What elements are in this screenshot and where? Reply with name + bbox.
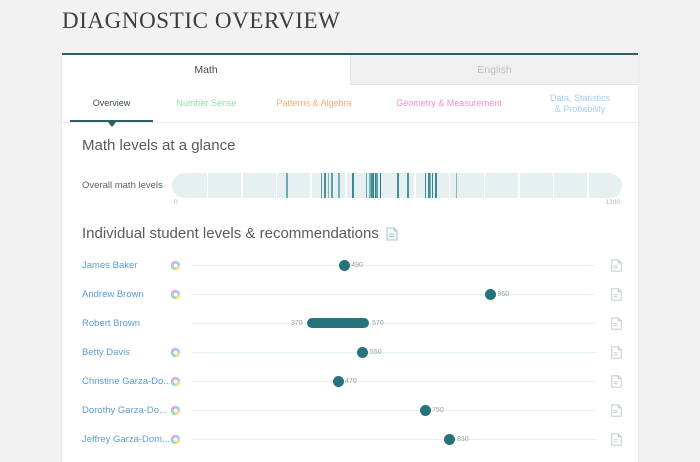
strip-tick <box>324 173 326 198</box>
individual-heading-text: Individual student levels & recommendati… <box>82 225 379 242</box>
report-document-icon[interactable] <box>611 433 622 446</box>
level-range-bar[interactable] <box>307 318 369 328</box>
strand-tab-bar: Overview Number Sense Patterns & Algebra… <box>62 85 638 123</box>
subject-tab-bar: Math English <box>62 53 638 85</box>
student-name-link[interactable]: James Baker <box>82 260 170 271</box>
tab-math[interactable]: Math <box>62 55 350 85</box>
strip-tick <box>380 173 382 198</box>
page-title: DIAGNOSTIC OVERVIEW <box>62 8 341 34</box>
strip-tick <box>366 173 368 198</box>
pie-chart-icon[interactable] <box>170 405 181 416</box>
tab-english[interactable]: English <box>350 55 638 85</box>
subtab-overview[interactable]: Overview <box>64 85 159 122</box>
recommendation-report-cell <box>596 259 622 272</box>
level-marker-dot[interactable] <box>420 405 431 416</box>
strip-segment-divider <box>587 173 589 198</box>
level-value-label: 750 <box>432 405 444 416</box>
student-row: Betty Davis 550 <box>82 338 622 367</box>
strip-segment-divider <box>241 173 243 198</box>
strip-segment-divider <box>207 173 209 198</box>
level-track-line <box>192 265 596 267</box>
strip-segment-divider <box>449 173 451 198</box>
level-track: 750 <box>192 400 596 422</box>
strand-breakdown-cell <box>170 376 192 387</box>
report-document-icon[interactable] <box>611 288 622 301</box>
subtab-geometry-measurement-label: Geometry & Measurement <box>396 98 502 109</box>
strip-tick <box>331 173 333 198</box>
student-name-link[interactable]: Jeffrey Garza-Dom... <box>82 434 170 445</box>
level-value-label: 550 <box>370 347 382 358</box>
subtab-patterns-algebra[interactable]: Patterns & Algebra <box>254 85 374 122</box>
student-name-link[interactable]: Andrew Brown <box>82 289 170 300</box>
report-document-icon[interactable] <box>611 346 622 359</box>
level-marker-dot[interactable] <box>485 289 496 300</box>
strip-segment-divider <box>484 173 486 198</box>
level-value-label: 960 <box>497 289 509 300</box>
strip-segment-divider <box>553 173 555 198</box>
report-document-icon[interactable] <box>611 404 622 417</box>
subtab-data-statistics-probability-label-line1: Data, Statistics <box>550 93 610 104</box>
subtab-number-sense[interactable]: Number Sense <box>159 85 254 122</box>
level-track-line <box>192 410 596 412</box>
level-track: 550 <box>192 342 596 364</box>
recommendation-report-cell <box>596 404 622 417</box>
level-range-high-label: 570 <box>372 318 384 329</box>
strip-tick <box>352 173 354 198</box>
subtab-patterns-algebra-label: Patterns & Algebra <box>276 98 351 109</box>
distribution-strip-wrapper: 0 1300 <box>172 173 622 198</box>
pie-chart-icon[interactable] <box>170 260 181 271</box>
level-marker-dot[interactable] <box>339 260 350 271</box>
axis-max-label: 1300 <box>606 199 620 206</box>
strip-tick <box>321 173 323 198</box>
strip-tick <box>407 173 409 198</box>
level-track: 830 <box>192 429 596 451</box>
student-row: Christine Garza-Do... 470 <box>82 367 622 396</box>
student-row: Dorothy Garza-Do... 750 <box>82 396 622 425</box>
level-track: 370570 <box>192 313 596 335</box>
level-value-label: 490 <box>351 260 363 271</box>
level-track: 490 <box>192 255 596 277</box>
diagnostic-panel: Math English Overview Number Sense Patte… <box>62 53 638 462</box>
pie-chart-icon[interactable] <box>170 376 181 387</box>
strip-tick <box>328 173 330 198</box>
level-track-line <box>192 323 596 325</box>
strip-tick <box>286 173 288 198</box>
strip-tick <box>435 173 437 198</box>
strip-segment-divider <box>310 173 312 198</box>
level-track: 470 <box>192 371 596 393</box>
document-export-icon[interactable] <box>386 227 398 241</box>
level-track-line <box>192 381 596 383</box>
student-row: Robert Brown370570 <box>82 309 622 338</box>
subtab-data-statistics-probability[interactable]: Data, Statistics & Probability <box>524 85 636 122</box>
student-name-link[interactable]: Dorothy Garza-Do... <box>82 405 170 416</box>
recommendation-report-cell <box>596 317 622 330</box>
level-value-label: 470 <box>345 376 357 387</box>
pie-chart-icon[interactable] <box>170 434 181 445</box>
overall-math-levels-label: Overall math levels <box>82 180 172 191</box>
student-name-link[interactable]: Christine Garza-Do... <box>82 376 170 387</box>
strip-segment-divider <box>345 173 347 198</box>
subtab-data-statistics-probability-label-line2: & Probability <box>555 104 606 115</box>
level-track-line <box>192 352 596 354</box>
strand-breakdown-cell <box>170 289 192 300</box>
tab-english-label: English <box>477 64 511 76</box>
axis-min-label: 0 <box>174 199 178 206</box>
strip-tick <box>425 173 427 198</box>
individual-section-heading: Individual student levels & recommendati… <box>82 225 398 242</box>
student-name-link[interactable]: Robert Brown <box>82 318 170 329</box>
level-track-line <box>192 439 596 441</box>
strand-breakdown-cell <box>170 434 192 445</box>
student-list: James Baker 490 Andrew Brown 960 <box>82 251 622 454</box>
recommendation-report-cell <box>596 433 622 446</box>
subtab-geometry-measurement[interactable]: Geometry & Measurement <box>374 85 524 122</box>
strip-tick <box>397 173 399 198</box>
strip-tick <box>432 173 434 198</box>
strand-breakdown-cell <box>170 347 192 358</box>
strip-segment-divider <box>518 173 520 198</box>
level-marker-dot[interactable] <box>333 376 344 387</box>
pie-chart-icon[interactable] <box>170 347 181 358</box>
student-row: Andrew Brown 960 <box>82 280 622 309</box>
recommendation-report-cell <box>596 346 622 359</box>
level-value-label: 830 <box>457 434 469 445</box>
level-range-low-label: 370 <box>291 318 303 329</box>
level-track: 960 <box>192 284 596 306</box>
strand-breakdown-cell <box>170 260 192 271</box>
glance-heading-text: Math levels at a glance <box>82 137 235 154</box>
distribution-strip[interactable] <box>172 173 622 198</box>
overall-math-levels-row: Overall math levels 0 1300 <box>82 173 622 198</box>
strip-tick <box>338 173 340 198</box>
strip-tick <box>376 173 378 198</box>
chevron-down-icon <box>108 122 116 127</box>
subtab-number-sense-label: Number Sense <box>176 98 236 109</box>
strip-segment-divider <box>276 173 278 198</box>
subtab-overview-label: Overview <box>93 98 131 109</box>
recommendation-report-cell <box>596 375 622 388</box>
tab-math-label: Math <box>194 64 217 76</box>
level-track-line <box>192 294 596 296</box>
student-row: James Baker 490 <box>82 251 622 280</box>
glance-section-heading: Math levels at a glance <box>82 137 235 154</box>
level-marker-dot[interactable] <box>357 347 368 358</box>
pie-chart-icon[interactable] <box>170 289 181 300</box>
strip-tick <box>456 173 458 198</box>
level-marker-dot[interactable] <box>444 434 455 445</box>
report-document-icon[interactable] <box>611 259 622 272</box>
strand-breakdown-cell <box>170 405 192 416</box>
student-row: Jeffrey Garza-Dom... 830 <box>82 425 622 454</box>
strip-segment-divider <box>414 173 416 198</box>
report-document-icon[interactable] <box>611 317 622 330</box>
student-name-link[interactable]: Betty Davis <box>82 347 170 358</box>
report-document-icon[interactable] <box>611 375 622 388</box>
recommendation-report-cell <box>596 288 622 301</box>
